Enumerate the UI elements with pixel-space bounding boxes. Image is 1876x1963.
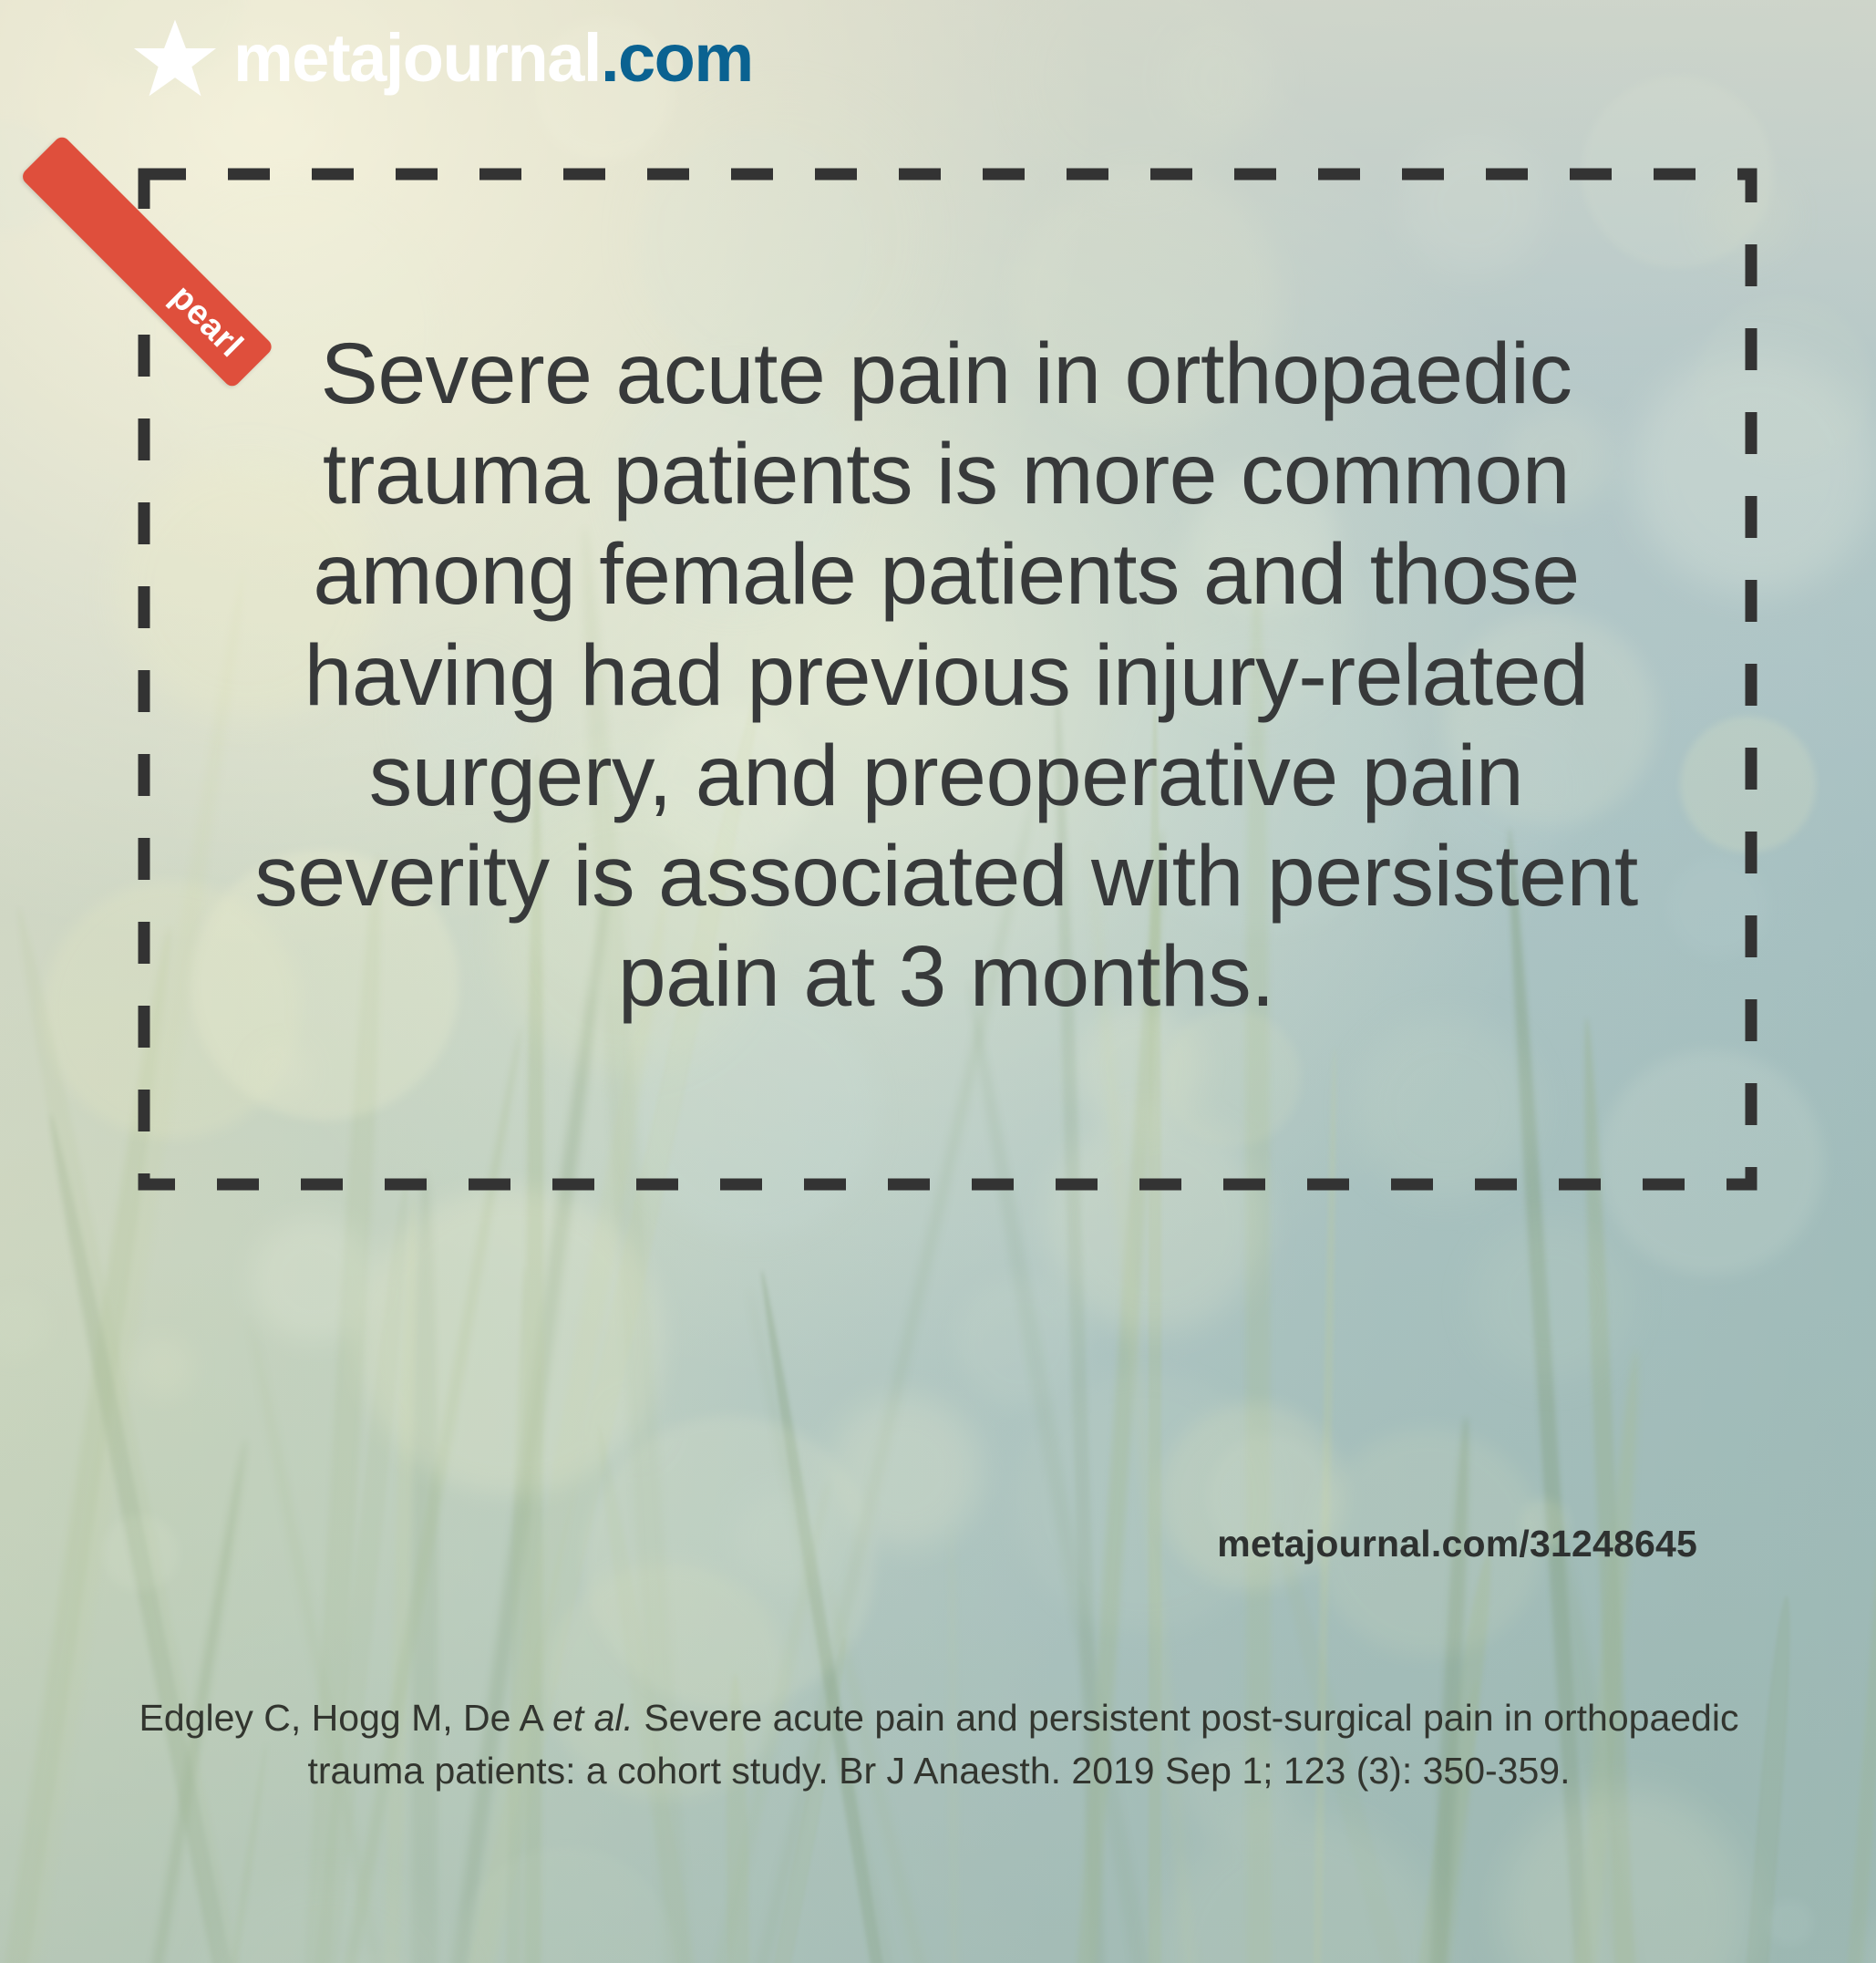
logo-word-main: metajournal: [233, 20, 601, 96]
citation-authors: Edgley C, Hogg M, De A: [139, 1697, 553, 1739]
pearl-quote-text: Severe acute pain in orthopaedic trauma …: [244, 324, 1648, 1027]
pearl-card: metajournal.com pearl Severe acute pain …: [0, 0, 1876, 1963]
logo-word-tld: .com: [601, 20, 753, 96]
permalink-url[interactable]: metajournal.com/31248645: [1217, 1523, 1697, 1565]
site-logo[interactable]: metajournal.com: [133, 16, 753, 100]
citation-etal: et al.: [552, 1697, 634, 1739]
citation-text: Edgley C, Hogg M, De A et al. Severe acu…: [137, 1691, 1741, 1797]
logo-wordmark: metajournal.com: [233, 25, 753, 92]
star-icon: [133, 16, 217, 100]
